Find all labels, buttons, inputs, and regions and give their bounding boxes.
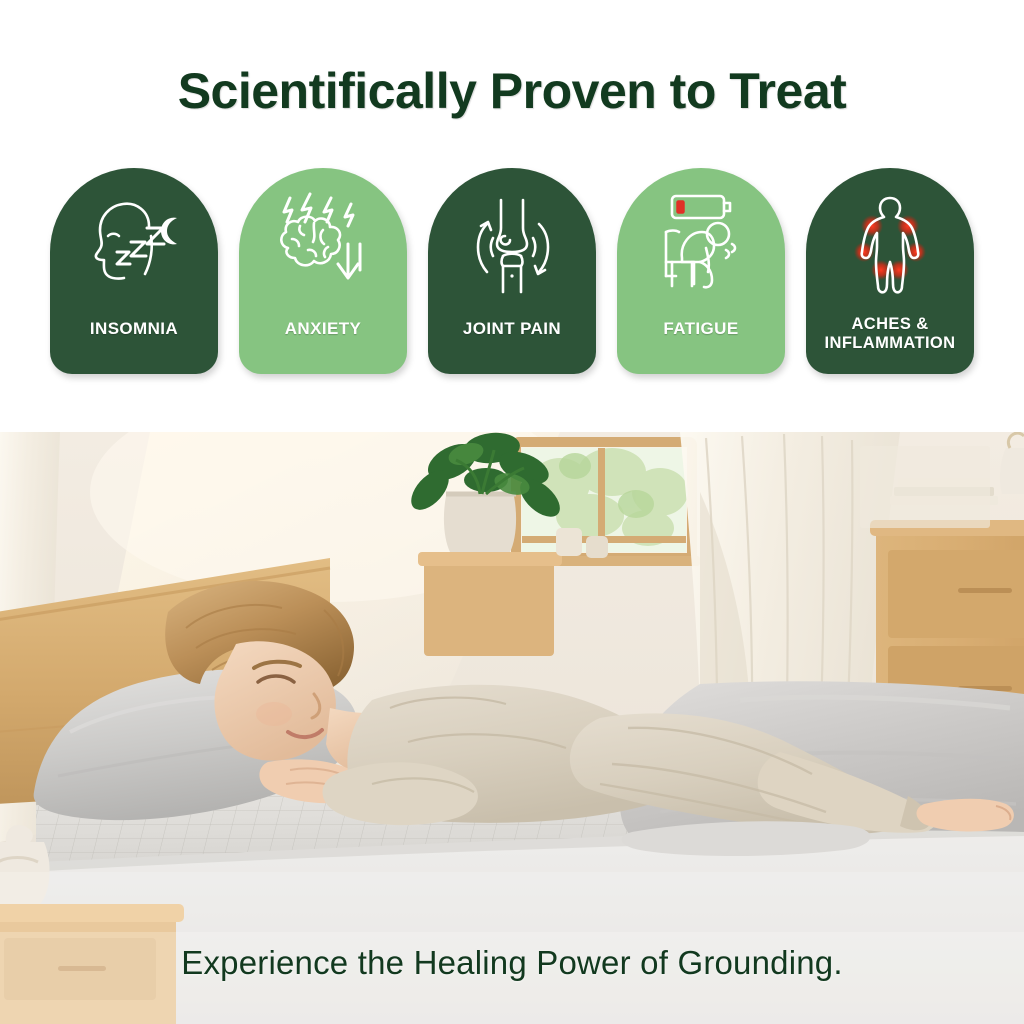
body-pain-points-icon xyxy=(835,192,945,300)
badge-label-anxiety: ANXIETY xyxy=(225,319,421,338)
knee-joint-arrows-icon xyxy=(457,192,567,300)
badge-label-line-1: ACHES & xyxy=(792,315,988,333)
badge-card-fatigue[interactable]: FATIGUE xyxy=(617,168,785,374)
badge-card-insomnia[interactable]: INSOMNIA xyxy=(50,168,218,374)
badge-label-insomnia: INSOMNIA xyxy=(36,319,232,338)
header-panel: Scientifically Proven to Treat xyxy=(0,0,1024,432)
photo-caption: Experience the Healing Power of Groundin… xyxy=(0,944,1024,982)
head-sleep-moon-icon xyxy=(79,192,189,300)
badge-label-joint-pain: JOINT PAIN xyxy=(414,319,610,338)
badge-label-fatigue: FATIGUE xyxy=(603,319,799,338)
brain-lightning-arrow-icon xyxy=(268,192,378,300)
low-battery-tired-person-icon xyxy=(646,192,756,300)
benefit-badge-row: INSOMNIA xyxy=(50,168,974,378)
badge-card-aches-inflammation[interactable]: ACHES & INFLAMMATION xyxy=(806,168,974,374)
badge-label-line-2: INFLAMMATION xyxy=(792,334,988,352)
badge-card-joint-pain[interactable]: JOINT PAIN xyxy=(428,168,596,374)
bedroom-photo xyxy=(0,432,1024,1024)
badge-card-anxiety[interactable]: ANXIETY xyxy=(239,168,407,374)
badge-label-aches-inflammation: ACHES & INFLAMMATION xyxy=(792,315,988,352)
page-title: Scientifically Proven to Treat xyxy=(0,62,1024,120)
infographic-page: Scientifically Proven to Treat xyxy=(0,0,1024,1024)
